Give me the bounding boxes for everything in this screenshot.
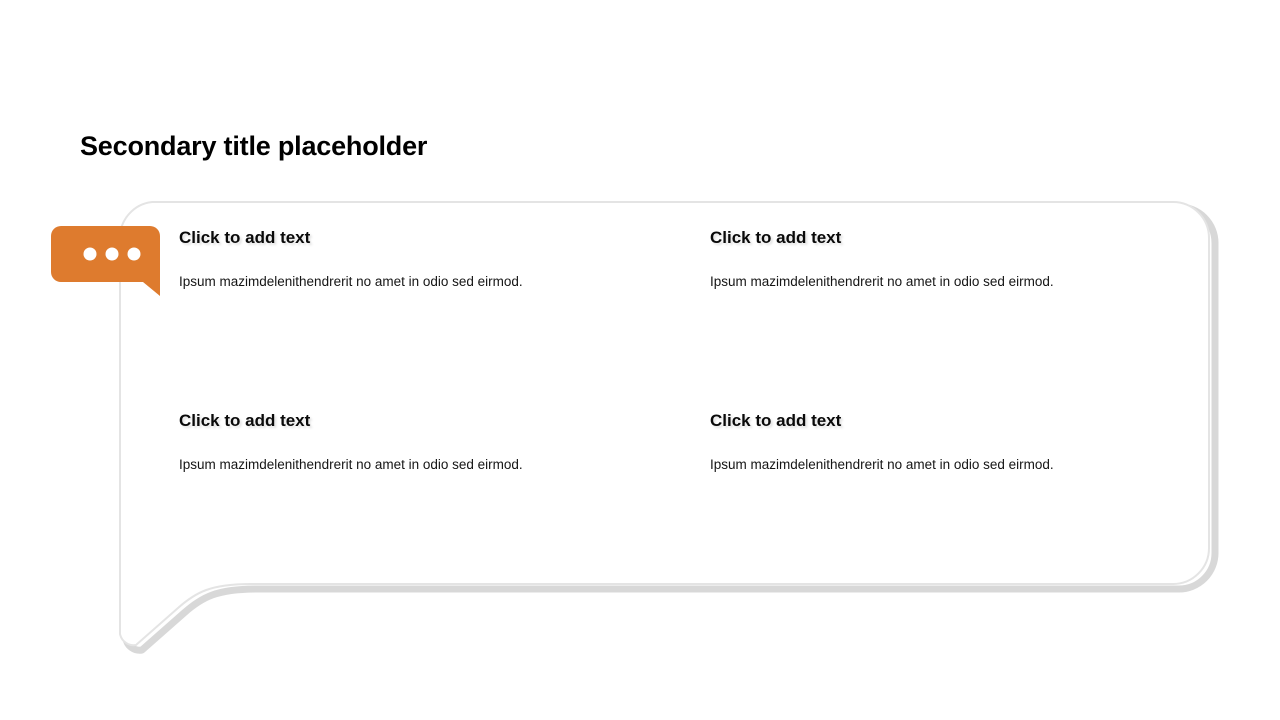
content-cell[interactable]: Click to add text Ipsum mazimdelenithend…: [179, 228, 659, 290]
cell-heading[interactable]: Click to add text: [179, 228, 659, 248]
content-cell[interactable]: Click to add text Ipsum mazimdelenithend…: [710, 411, 1190, 473]
slide-canvas: Secondary title placeholder Click to add…: [0, 0, 1280, 720]
content-cell[interactable]: Click to add text Ipsum mazimdelenithend…: [179, 411, 659, 473]
bubble-dot-2: [106, 248, 119, 261]
speech-bubble-shape: [51, 226, 160, 296]
speech-bubble-icon[interactable]: [51, 226, 160, 296]
cell-body-text[interactable]: Ipsum mazimdelenithendrerit no amet in o…: [710, 248, 1190, 290]
cell-body-text[interactable]: Ipsum mazimdelenithendrerit no amet in o…: [179, 431, 659, 473]
page-title[interactable]: Secondary title placeholder: [80, 131, 427, 162]
content-cell[interactable]: Click to add text Ipsum mazimdelenithend…: [710, 228, 1190, 290]
cell-body-text[interactable]: Ipsum mazimdelenithendrerit no amet in o…: [179, 248, 659, 290]
cell-heading[interactable]: Click to add text: [179, 411, 659, 431]
bubble-dot-3: [128, 248, 141, 261]
bubble-dot-1: [84, 248, 97, 261]
cell-heading[interactable]: Click to add text: [710, 228, 1190, 248]
cell-heading[interactable]: Click to add text: [710, 411, 1190, 431]
content-grid: Click to add text Ipsum mazimdelenithend…: [179, 228, 1189, 558]
cell-body-text[interactable]: Ipsum mazimdelenithendrerit no amet in o…: [710, 431, 1190, 473]
